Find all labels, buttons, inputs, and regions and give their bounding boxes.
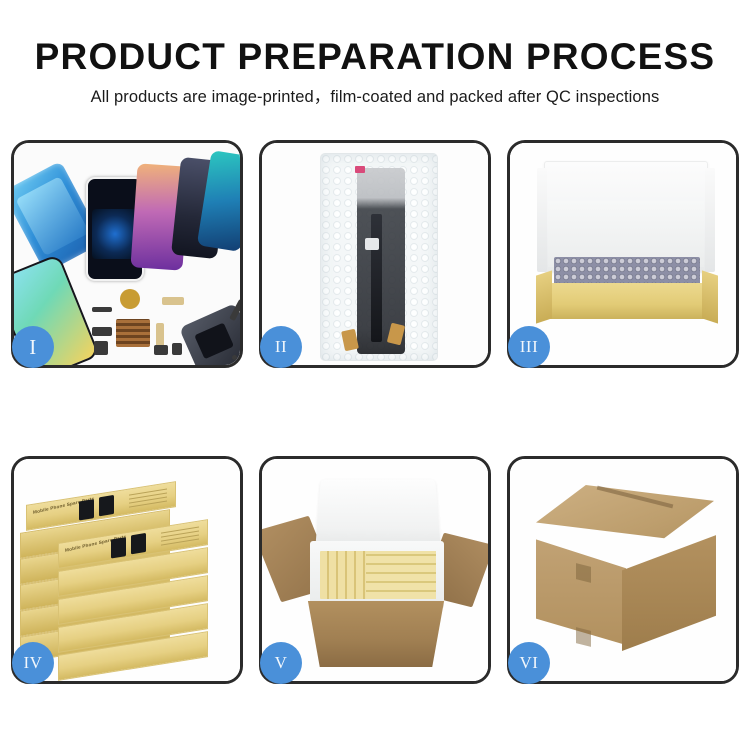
spare-parts-cluster bbox=[92, 283, 240, 365]
part-vibrator bbox=[172, 343, 182, 355]
pink-label-sticker bbox=[355, 166, 365, 173]
box-print-screen bbox=[79, 499, 94, 520]
page-title: PRODUCT PREPARATION PROCESS bbox=[0, 36, 750, 78]
step-panel-5: V bbox=[259, 456, 491, 684]
white-connector bbox=[365, 238, 379, 250]
part-button bbox=[154, 345, 168, 355]
carton-right-face bbox=[622, 525, 716, 651]
part-backplate bbox=[179, 303, 240, 365]
part-bracket bbox=[92, 327, 112, 336]
carton-tab-lower bbox=[576, 627, 591, 647]
kraft-box-base bbox=[536, 283, 718, 319]
process-steps-grid: I II bbox=[11, 140, 739, 685]
inner-yellow-boxes-row-2 bbox=[366, 551, 436, 599]
step-panel-1: I bbox=[11, 140, 243, 368]
part-speaker-coil bbox=[120, 289, 140, 309]
step-panel-4: Mobile Phone Spare Parts Mobile Phone Sp… bbox=[11, 456, 243, 684]
step-panel-2: II bbox=[259, 140, 491, 368]
part-chip-array bbox=[116, 319, 150, 347]
step-badge-5: V bbox=[260, 642, 302, 684]
flex-cable-strip bbox=[371, 214, 382, 342]
step-panel-3: III bbox=[507, 140, 739, 368]
step-panel-6: VI bbox=[507, 456, 739, 684]
part-screw bbox=[232, 355, 237, 360]
box-print-screen bbox=[131, 533, 146, 554]
carton-tab-upper bbox=[576, 563, 591, 583]
box-print-screen bbox=[99, 495, 114, 516]
part-flex-gold bbox=[162, 297, 184, 305]
page-subtitle: All products are image-printed，film-coat… bbox=[0, 83, 750, 107]
step-badge-4: IV bbox=[12, 642, 54, 684]
carton-front-panel bbox=[302, 601, 450, 667]
step-badge-6: VI bbox=[508, 642, 550, 684]
part-camera bbox=[94, 341, 108, 355]
page-root: PRODUCT PREPARATION PROCESS All products… bbox=[0, 0, 750, 750]
step-badge-2: II bbox=[260, 326, 302, 368]
carton-left-face bbox=[536, 525, 626, 645]
bubble-wrap-bag bbox=[320, 153, 438, 361]
step-badge-1: I bbox=[12, 326, 54, 368]
part-connector bbox=[92, 307, 112, 312]
page-header: PRODUCT PREPARATION PROCESS All products… bbox=[0, 0, 750, 125]
box-print-screen bbox=[111, 537, 126, 558]
step-badge-3: III bbox=[508, 326, 550, 368]
